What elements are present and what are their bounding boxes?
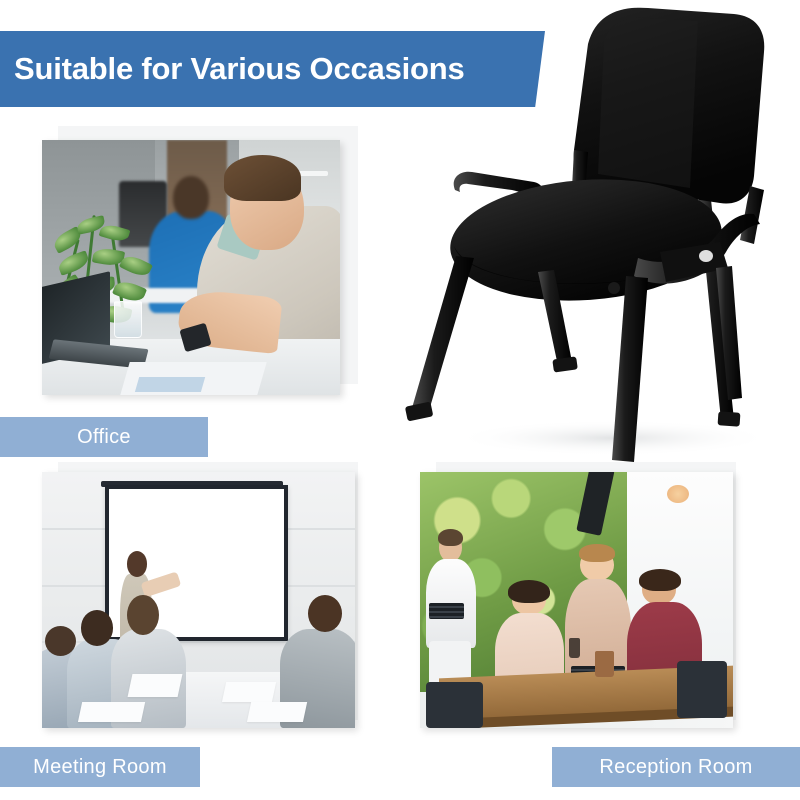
chair-illustration bbox=[398, 0, 800, 470]
caption-meeting-room: Meeting Room bbox=[0, 747, 200, 787]
reception-dark-chair bbox=[426, 682, 482, 728]
caption-office: Office bbox=[0, 417, 208, 457]
page-title: Suitable for Various Occasions bbox=[0, 51, 465, 87]
meeting-room-scene bbox=[42, 472, 355, 728]
chair-foot-cap bbox=[718, 411, 741, 427]
pendant-lamp bbox=[667, 485, 689, 503]
chair-bracket-hole bbox=[699, 250, 713, 262]
chair-backrest-highlight bbox=[598, 18, 698, 188]
chair-foot-cap bbox=[405, 401, 434, 421]
office-scene bbox=[42, 140, 340, 395]
reception-dark-chair bbox=[677, 661, 727, 717]
caption-reception-room: Reception Room bbox=[552, 747, 800, 787]
reception-coffee-cup bbox=[595, 651, 614, 677]
meeting-document bbox=[127, 674, 182, 697]
reception-room-photo bbox=[420, 472, 733, 728]
office-chart-document bbox=[135, 377, 205, 392]
reception-standing-man bbox=[426, 533, 476, 692]
meeting-document bbox=[221, 682, 275, 702]
chair-foot-cap bbox=[552, 356, 578, 372]
office-water-glass bbox=[114, 301, 143, 339]
reception-room-scene bbox=[420, 472, 733, 728]
product-image-chair bbox=[398, 0, 800, 470]
caption-reception-room-label: Reception Room bbox=[599, 756, 752, 779]
meeting-room-photo bbox=[42, 472, 355, 728]
meeting-document bbox=[77, 702, 144, 722]
office-worker-hair bbox=[224, 155, 301, 201]
caption-office-label: Office bbox=[77, 426, 131, 449]
meeting-document bbox=[246, 702, 307, 722]
caption-meeting-room-label: Meeting Room bbox=[33, 756, 167, 779]
chair-front-left-leg bbox=[412, 256, 474, 414]
office-photo bbox=[42, 140, 340, 395]
presenter-head bbox=[127, 551, 147, 577]
chair-bracket-rivet bbox=[608, 282, 620, 294]
